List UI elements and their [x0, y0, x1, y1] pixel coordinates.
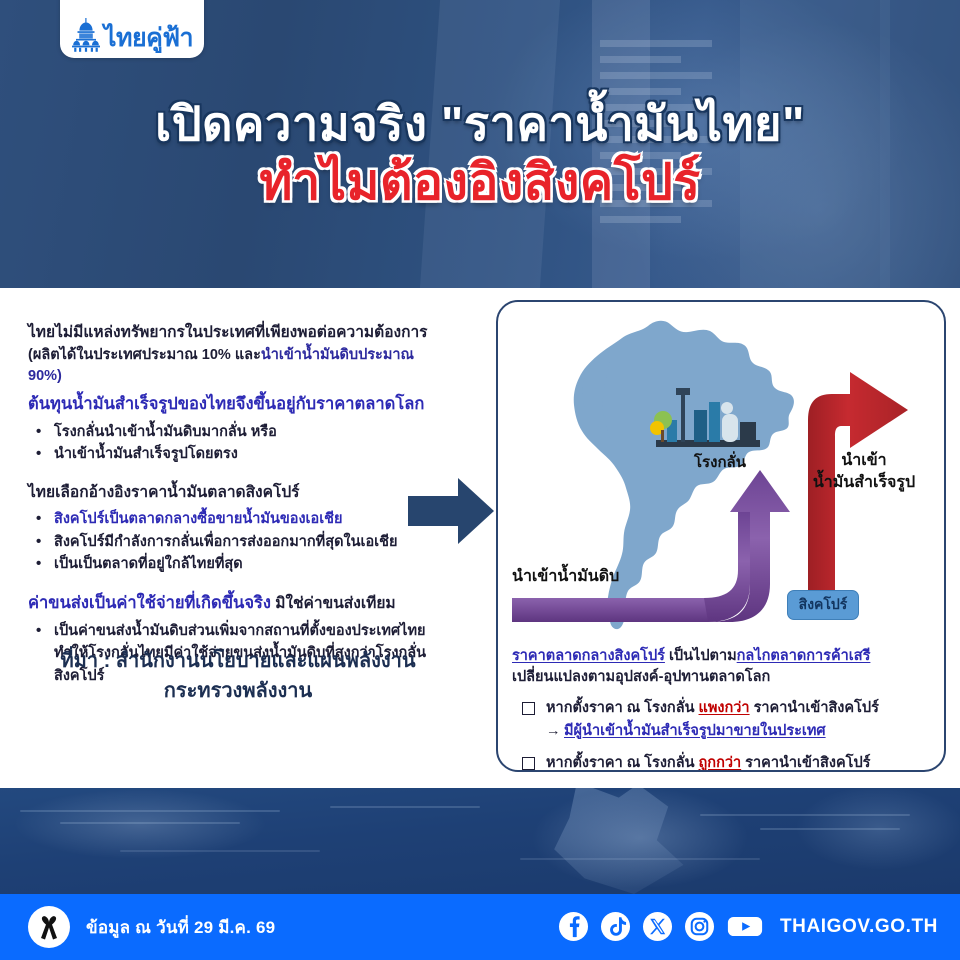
water-texture-band — [0, 788, 960, 894]
page-title-line1: เปิดความจริง "ราคาน้ำมันไทย" — [0, 96, 960, 151]
list-item: สิงคโปร์มีกำลังการกลั่นเพื่อการส่งออกมาก… — [28, 531, 448, 553]
website-url[interactable]: THAIGOV.GO.TH — [780, 916, 938, 938]
source-line-2: กระทรวงพลังงาน — [28, 676, 448, 706]
social-links: THAIGOV.GO.TH — [558, 911, 938, 942]
facebook-icon[interactable] — [558, 911, 589, 942]
mourning-ribbon-icon — [37, 913, 61, 941]
condition-highlight: แพงกว่า — [699, 700, 750, 716]
condition-suffix: ราคานำเข้าสิงคโปร์ — [750, 700, 879, 716]
heading-singapore-reference: ไทยเลือกอ้างอิงราคาน้ำมันตลาดสิงคโปร์ — [28, 482, 448, 504]
list-item: โรงกลั่นนำเข้าน้ำมันดิบมากลั่น หรือ — [28, 421, 448, 443]
water-splash — [520, 788, 710, 894]
condition-suffix: ราคานำเข้าสิงคโปร์ — [741, 755, 870, 771]
free-trade-mechanism-term: กลไกตลาดการค้าเสรี — [737, 648, 871, 664]
singapore-badge: สิงคโปร์ — [787, 590, 859, 620]
header-title-group: เปิดความจริง "ราคาน้ำมันไทย" ทำไมต้องอิง… — [0, 96, 960, 212]
map-label-import-finished-line1: นำเข้า — [794, 450, 934, 472]
arrow-right-icon: → — [546, 721, 561, 743]
youtube-icon[interactable] — [726, 911, 764, 942]
water-ripple — [330, 806, 480, 808]
production-note-prefix: (ผลิตได้ในประเทศประมาณ 10% และ — [28, 347, 261, 363]
brand-logo[interactable]: ไทยคู่ฟ้า — [60, 0, 204, 58]
right-arrow-icon — [408, 476, 494, 546]
list-item: เป็นเป็นตลาดที่อยู่ใกล้ไทยที่สุด — [28, 553, 448, 575]
list-item: นำเข้าน้ำมันสำเร็จรูปโดยตรง — [28, 443, 448, 465]
page-title-line2: ทำไมต้องอิงสิงคโปร์ — [0, 153, 960, 212]
diagram-panel: โรงกลั่น นำเข้า น้ำมันสำเร็จรูป นำเข้าน้… — [496, 300, 946, 772]
condition-prefix: หากตั้งราคา ณ โรงกลั่น — [546, 700, 699, 716]
panel-explanation: ราคาตลาดกลางสิงคโปร์ เป็นไปตามกลไกตลาดกา… — [512, 646, 936, 772]
condition-highlight: ถูกกว่า — [699, 755, 742, 771]
bullet-list-cost: โรงกลั่นนำเข้าน้ำมันดิบมากลั่น หรือ นำเข… — [28, 421, 448, 466]
x-twitter-icon[interactable] — [642, 911, 673, 942]
supply-demand-note: เปลี่ยนแปลงตามอุปสงค์-อุปทานตลาดโลก — [512, 667, 936, 688]
footer-bar: ข้อมูล ณ วันที่ 29 มี.ค. 69 — [0, 894, 960, 960]
left-text-column: ไทยไม่มีแหล่งทรัพยากรในประเทศที่เพียงพอต… — [28, 322, 448, 687]
map-diagram: โรงกลั่น นำเข้า น้ำมันสำเร็จรูป นำเข้าน้… — [498, 302, 946, 642]
header-banner: ไทยคู่ฟ้า เปิดความจริง "ราคาน้ำมันไทย" ท… — [0, 0, 960, 288]
condition-prefix: หากตั้งราคา ณ โรงกลั่น — [546, 755, 699, 771]
water-ripple — [760, 828, 900, 830]
water-ripple — [120, 850, 320, 852]
list-item: หากตั้งราคา ณ โรงกลั่น แพงกว่า ราคานำเข้… — [512, 698, 936, 743]
source-attribution: ที่มา : สำนักงานนโยบายและแผนพลังงาน กระท… — [28, 646, 448, 706]
source-line-1: ที่มา : สำนักงานนโยบายและแผนพลังงาน — [28, 646, 448, 676]
water-ripple — [20, 810, 280, 812]
lead-statement: ไทยไม่มีแหล่งทรัพยากรในประเทศที่เพียงพอต… — [28, 322, 448, 344]
tiktok-icon[interactable] — [600, 911, 631, 942]
bullet-list-singapore: สิงคโปร์เป็นตลาดกลางซื้อขายน้ำมันของเอเช… — [28, 508, 448, 575]
condition-main: หากตั้งราคา ณ โรงกลั่น ถูกกว่า ราคานำเข้… — [546, 753, 936, 772]
water-ripple — [60, 822, 240, 824]
brand-logo-text: ไทยคู่ฟ้า — [104, 26, 193, 52]
condition-result-text: มีผู้นำเข้าน้ำมันสำเร็จรูปมาขายในประเทศ — [564, 723, 826, 739]
list-item: หากตั้งราคา ณ โรงกลั่น ถูกกว่า ราคานำเข้… — [512, 753, 936, 772]
map-label-import-finished: นำเข้า น้ำมันสำเร็จรูป — [794, 450, 934, 493]
highlight-cost-world-market: ต้นทุนน้ำมันสำเร็จรูปของไทยจึงขึ้นอยู่กั… — [28, 393, 448, 417]
infographic-page: ไทยคู่ฟ้า เปิดความจริง "ราคาน้ำมันไทย" ท… — [0, 0, 960, 960]
instagram-icon[interactable] — [684, 911, 715, 942]
transport-cost-highlight: ค่าขนส่งเป็นค่าใช้จ่ายที่เกิดขึ้นจริง — [28, 594, 271, 612]
market-price-term: ราคาตลาดกลางสิงคโปร์ — [512, 648, 665, 664]
condition-main: หากตั้งราคา ณ โรงกลั่น แพงกว่า ราคานำเข้… — [546, 698, 936, 720]
map-label-refinery: โรงกลั่น — [694, 450, 746, 474]
market-price-connector: เป็นไปตาม — [665, 648, 737, 664]
condition-list: หากตั้งราคา ณ โรงกลั่น แพงกว่า ราคานำเข้… — [512, 698, 936, 772]
water-ripple — [520, 858, 760, 860]
map-label-import-crude: นำเข้าน้ำมันดิบ — [512, 564, 619, 589]
footer-date-text: ข้อมูล ณ วันที่ 29 มี.ค. 69 — [86, 914, 275, 941]
government-house-dome-icon — [71, 18, 101, 52]
production-import-note: (ผลิตได้ในประเทศประมาณ 10% และนำเข้าน้ำม… — [28, 345, 448, 386]
water-ripple — [700, 814, 910, 816]
mourning-ribbon-badge — [28, 906, 70, 948]
list-item: สิงคโปร์เป็นตลาดกลางซื้อขายน้ำมันของเอเช… — [28, 508, 448, 530]
transport-cost-suffix: มิใช่ค่าขนส่งเทียม — [271, 595, 396, 612]
map-label-import-finished-line2: น้ำมันสำเร็จรูป — [794, 472, 934, 494]
condition-result: →มีผู้นำเข้าน้ำมันสำเร็จรูปมาขายในประเทศ — [546, 721, 936, 743]
market-price-statement: ราคาตลาดกลางสิงคโปร์ เป็นไปตามกลไกตลาดกา… — [512, 646, 936, 667]
heading-transport-cost: ค่าขนส่งเป็นค่าใช้จ่ายที่เกิดขึ้นจริง มิ… — [28, 592, 448, 616]
